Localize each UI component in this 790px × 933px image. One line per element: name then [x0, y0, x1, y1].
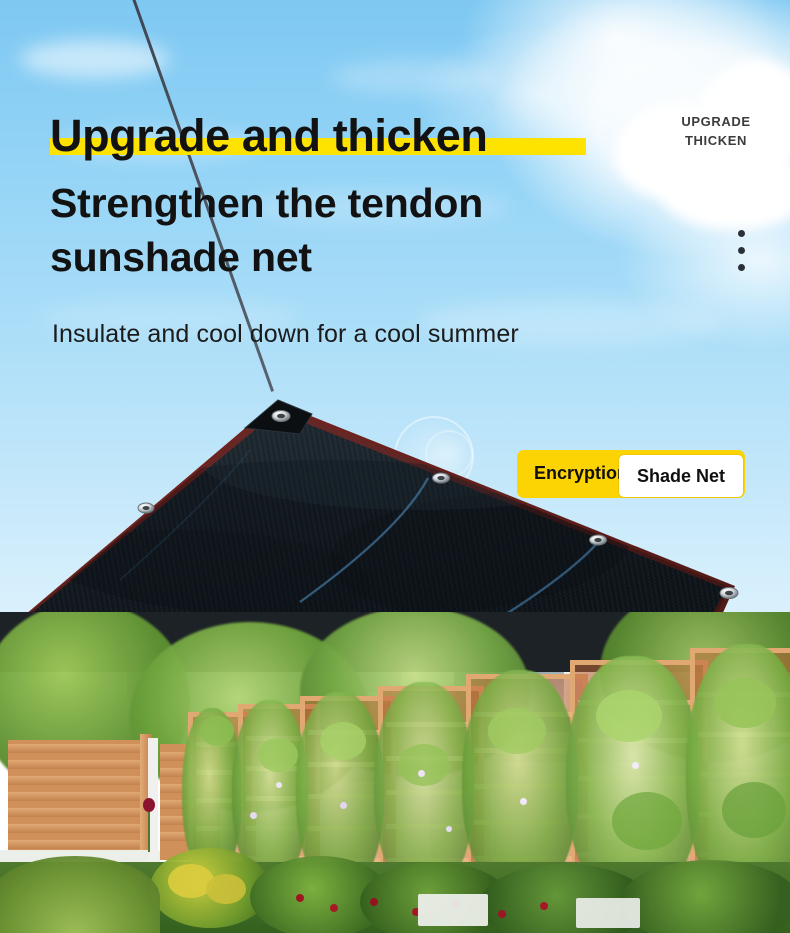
cloud-wisp	[330, 60, 500, 94]
subtitle: Insulate and cool down for a cool summer	[52, 320, 519, 349]
product-promo-banner: Upgrade and thicken Strengthen the tendo…	[0, 0, 790, 933]
badge-encryption-label: Encryption	[534, 463, 628, 484]
kebab-dot	[738, 230, 745, 237]
yellow-leaf-accent	[206, 874, 246, 904]
net-shading	[0, 410, 790, 640]
brand-tag: UPGRADE THICKEN	[666, 113, 766, 151]
planter-box	[576, 898, 640, 928]
headline-block: Upgrade and thicken Strengthen the tendo…	[50, 112, 650, 284]
headline-line1: Upgrade and thicken	[50, 112, 487, 159]
allium-flower	[143, 798, 155, 812]
headline-line2: Strengthen the tendon sunshade net	[50, 177, 650, 284]
kebab-dot	[738, 264, 745, 271]
planter-box	[418, 894, 488, 926]
cloud-puff	[660, 150, 790, 230]
kebab-dot	[738, 247, 745, 254]
cloud-wisp	[20, 40, 170, 78]
garden-scene	[0, 612, 790, 933]
badge-shade-net-label: Shade Net	[619, 455, 743, 497]
brand-tag-line2: THICKEN	[666, 132, 766, 151]
kebab-menu-icon[interactable]	[735, 230, 747, 276]
headline-line1-wrapper: Upgrade and thicken	[50, 112, 487, 159]
flower-stalk	[148, 808, 150, 852]
brand-tag-line1: UPGRADE	[666, 113, 766, 132]
